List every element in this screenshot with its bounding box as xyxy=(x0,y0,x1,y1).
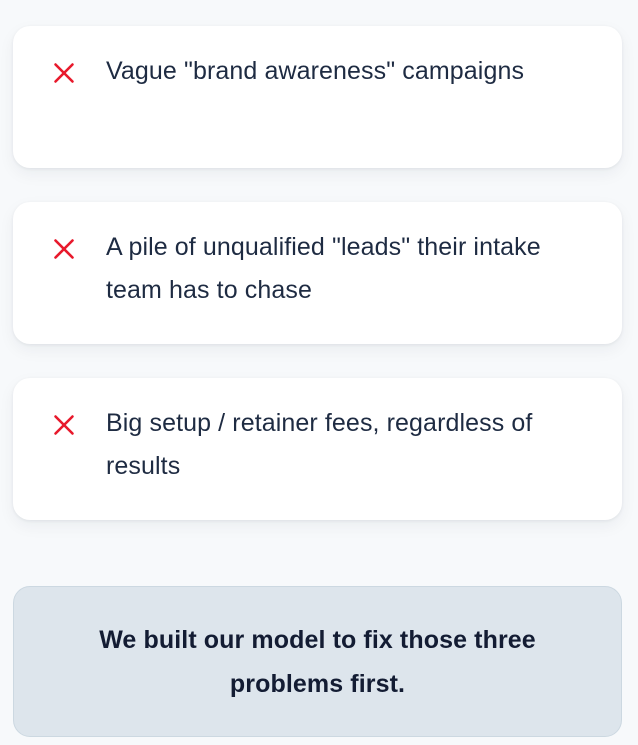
pain-point-text: A pile of unqualified "leads" their inta… xyxy=(106,226,584,312)
x-mark-icon xyxy=(52,61,76,85)
x-mark-icon xyxy=(52,413,76,437)
pain-point-text: Big setup / retainer fees, regardless of… xyxy=(106,402,584,488)
summary-banner-text: We built our model to fix those three pr… xyxy=(58,618,577,706)
summary-banner: We built our model to fix those three pr… xyxy=(13,586,622,737)
pain-points-section: Vague "brand awareness" campaigns A pile… xyxy=(0,0,638,745)
pain-point-text: Vague "brand awareness" campaigns xyxy=(106,50,524,93)
pain-point-card: Big setup / retainer fees, regardless of… xyxy=(13,378,622,520)
pain-point-card: A pile of unqualified "leads" their inta… xyxy=(13,202,622,344)
pain-point-card: Vague "brand awareness" campaigns xyxy=(13,26,622,168)
pain-point-card-list: Vague "brand awareness" campaigns A pile… xyxy=(13,26,622,520)
x-mark-icon xyxy=(52,237,76,261)
